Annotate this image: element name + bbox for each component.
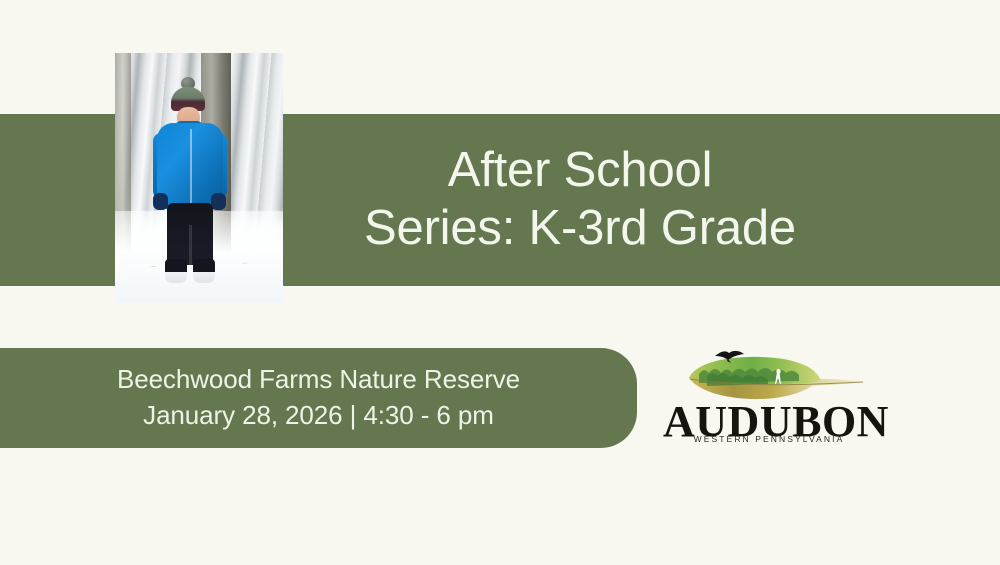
child-figure [153, 77, 229, 285]
event-flyer: After School Series: K-3rd Grade [0, 0, 1000, 565]
glove-right-icon [211, 193, 226, 210]
snow-boot-right-icon [193, 259, 215, 283]
jacket-zipper [190, 129, 192, 203]
snow-pants [167, 203, 213, 265]
glove-left-icon [153, 193, 168, 210]
header-title-block: After School Series: K-3rd Grade [300, 114, 860, 286]
audubon-logo: AUDUBON WESTERN PENNSYLVANIA [663, 348, 875, 458]
page-title-line-1: After School [448, 146, 713, 196]
winter-forest-photo [115, 53, 283, 303]
event-info-pill: Beechwood Farms Nature Reserve January 2… [0, 348, 637, 448]
event-datetime: January 28, 2026 | 4:30 - 6 pm [143, 399, 494, 433]
event-location: Beechwood Farms Nature Reserve [117, 363, 520, 397]
page-title-line-2: Series: K-3rd Grade [364, 204, 796, 254]
audubon-chapter-name: WESTERN PENNSYLVANIA [663, 434, 875, 444]
snow-boot-left-icon [165, 259, 187, 283]
forest-background [115, 53, 283, 303]
